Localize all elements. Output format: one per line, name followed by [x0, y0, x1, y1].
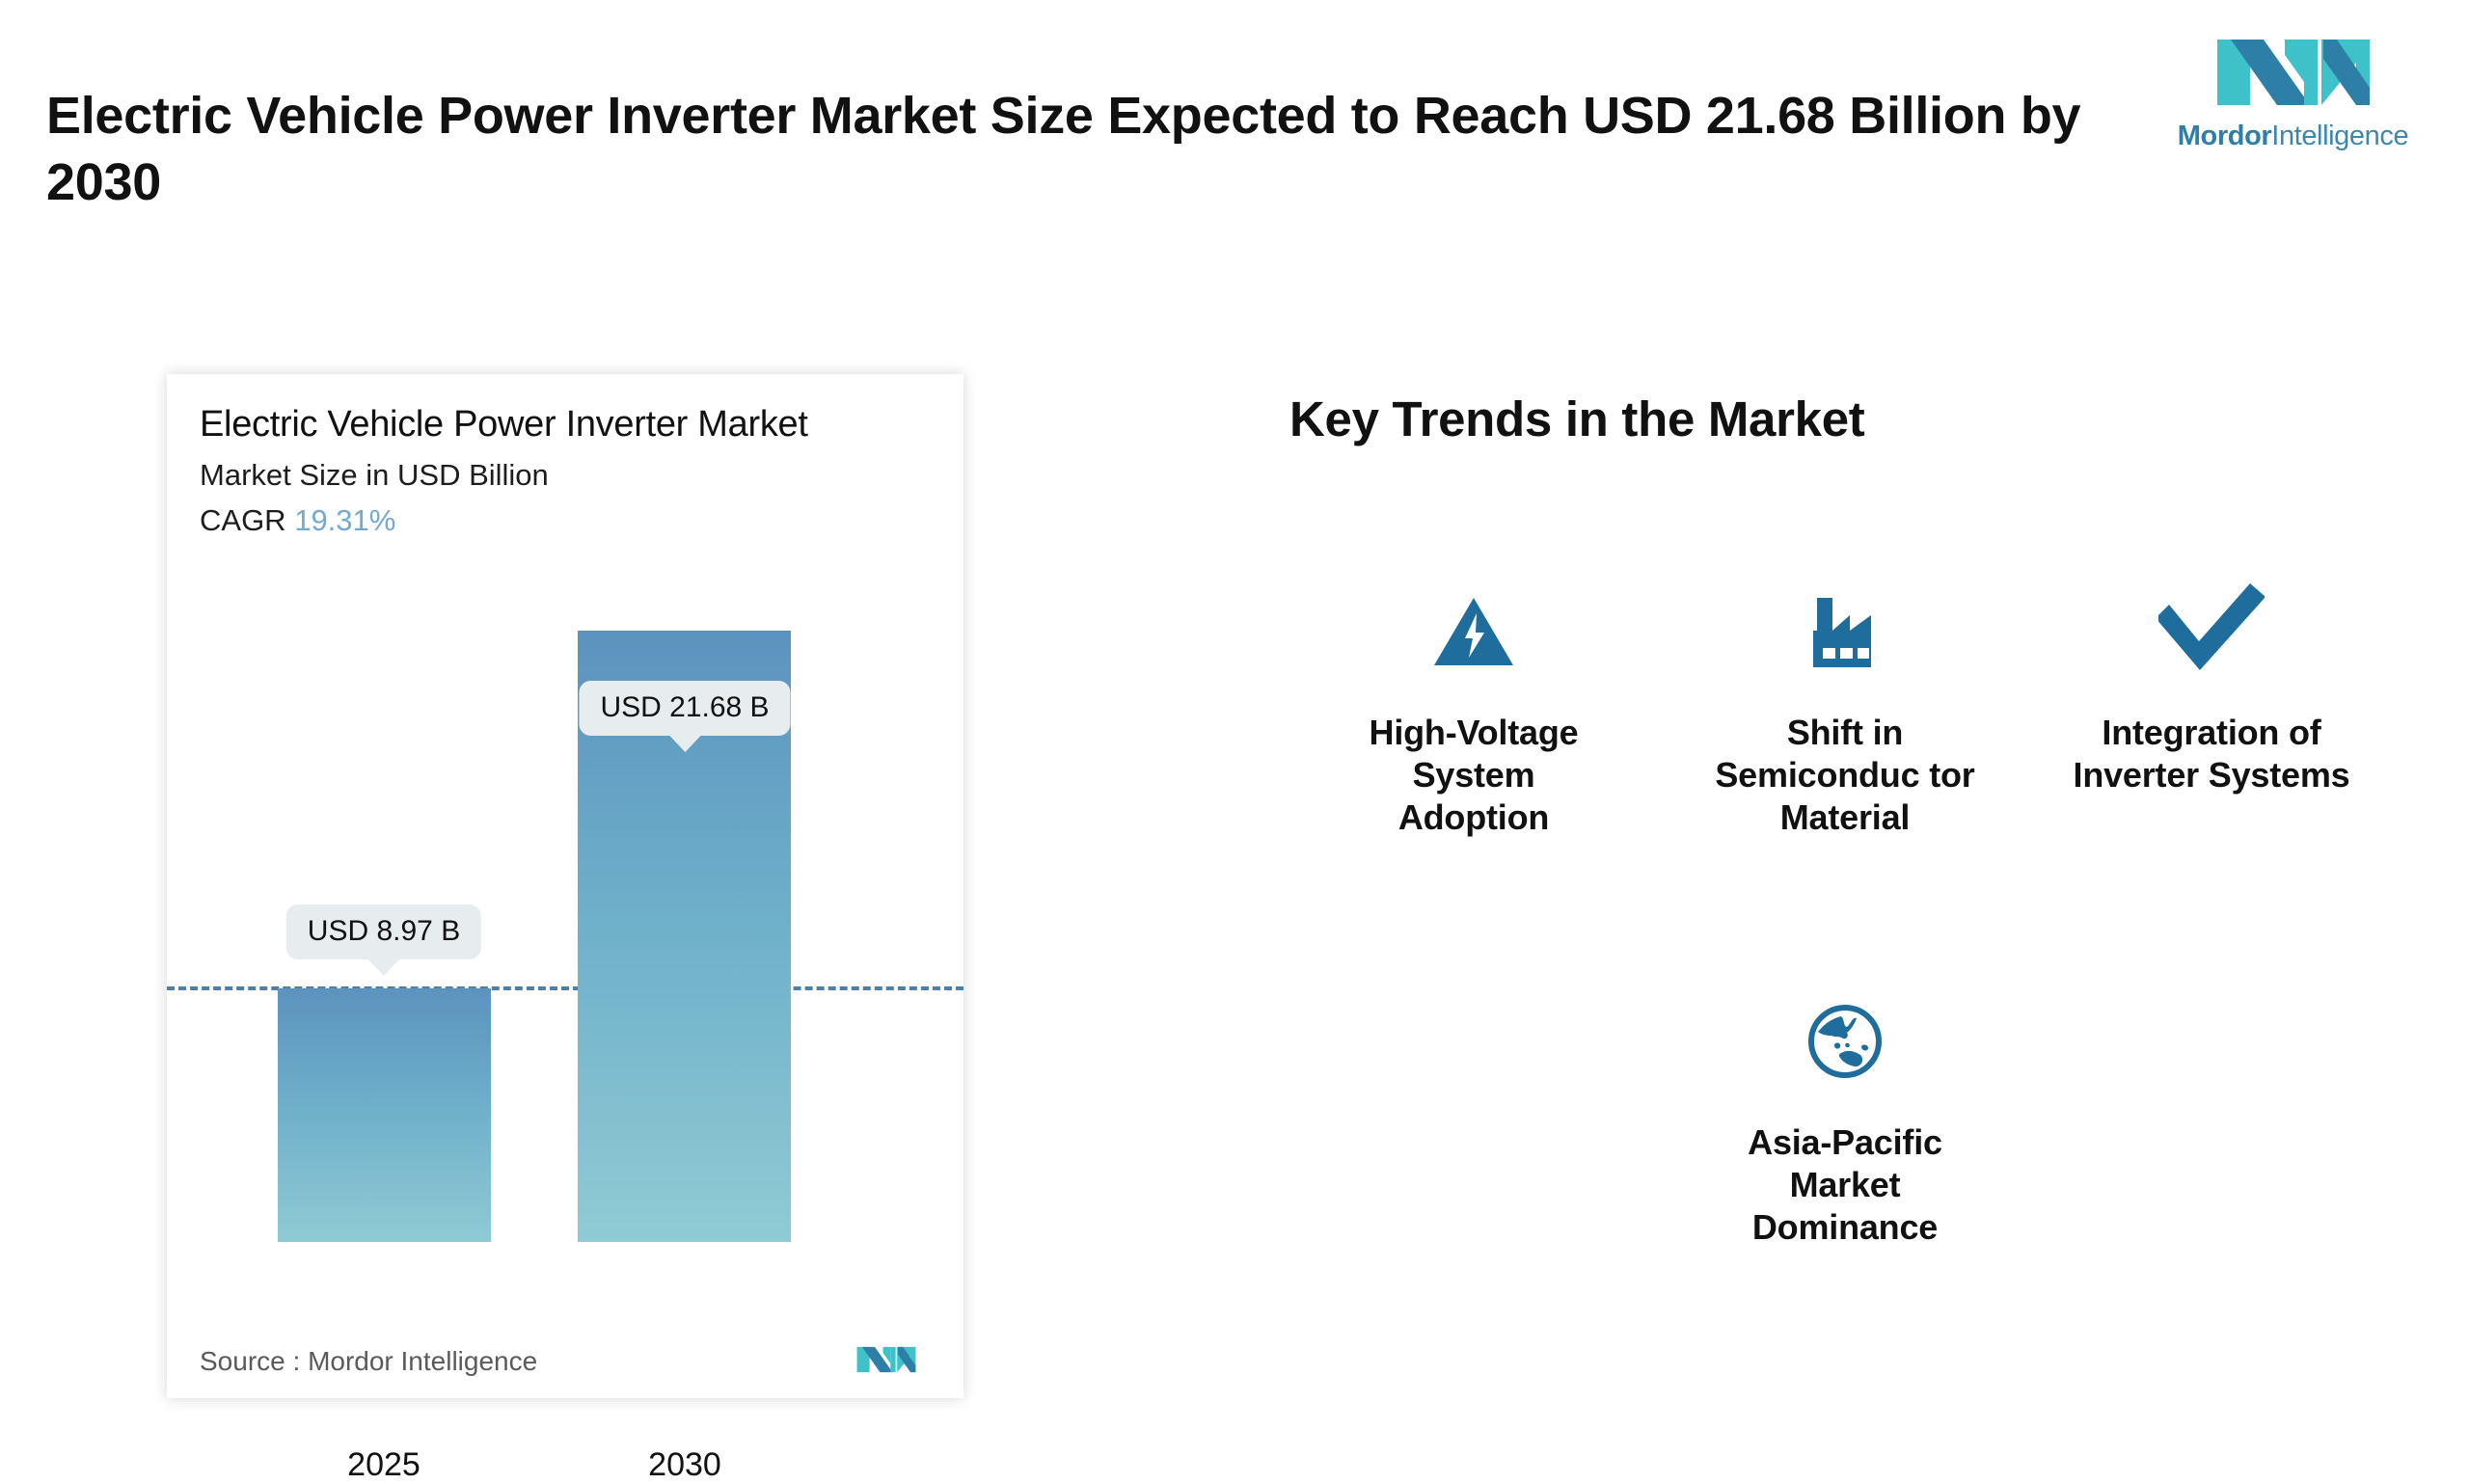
source-value: Mordor Intelligence	[308, 1346, 537, 1376]
page-title: Electric Vehicle Power Inverter Market S…	[46, 83, 2091, 216]
trend-icon-frame-3	[1792, 988, 1898, 1094]
chart-card: Electric Vehicle Power Inverter Market M…	[167, 374, 963, 1398]
bar-value-label-2030: USD 21.68 B	[579, 681, 790, 736]
brand-logo: MordorIntelligence	[2132, 0, 2454, 185]
chart-title: Electric Vehicle Power Inverter Market	[200, 404, 808, 445]
trend-label-1: Shift in Semiconduc tor Material	[1705, 712, 1985, 839]
bar-value-label-2025: USD 8.97 B	[286, 904, 481, 959]
chart-subtitle: Market Size in USD Billion	[200, 458, 549, 493]
trend-icon-frame-1	[1792, 579, 1898, 685]
trend-label-2: Integration of Inverter Systems	[2072, 712, 2351, 796]
globe-asia-pacific-icon	[1806, 1003, 1884, 1080]
trend-label-0: High-Voltage System Adoption	[1334, 712, 1614, 839]
chart-source: Source : Mordor Intelligence	[200, 1346, 537, 1377]
trend-icon-frame-0	[1421, 579, 1527, 685]
mordor-intelligence-logo-icon	[2213, 34, 2374, 111]
checkmark-icon	[2154, 581, 2269, 682]
cagr-value: 19.31%	[294, 503, 395, 537]
trend-item-asia-pacific[interactable]: Asia-Pacific Market Dominance	[1705, 988, 1985, 1249]
brand-word-mordor: Mordor	[2178, 121, 2271, 151]
chart-cagr: CAGR 19.31%	[200, 503, 395, 538]
trend-item-high-voltage[interactable]: High-Voltage System Adoption	[1334, 579, 1614, 839]
card-logo-icon	[855, 1342, 917, 1377]
brand-word-intelligence: Intelligence	[2271, 121, 2408, 151]
trend-label-3: Asia-Pacific Market Dominance	[1705, 1121, 1985, 1249]
x-axis-label-2030: 2030	[648, 1446, 721, 1484]
trend-item-inverter-integration[interactable]: Integration of Inverter Systems	[2072, 579, 2351, 796]
source-label: Source :	[200, 1346, 300, 1376]
plot-area: USD 8.97 B USD 21.68 B 2025 2030	[167, 567, 963, 1242]
key-trends-heading: Key Trends in the Market	[1289, 391, 1864, 447]
trend-icon-frame-2	[2158, 579, 2265, 685]
factory-icon	[1809, 594, 1881, 669]
bar-2025[interactable]	[278, 988, 491, 1242]
cagr-label: CAGR	[200, 503, 286, 537]
trend-item-semiconductor[interactable]: Shift in Semiconduc tor Material	[1705, 579, 1985, 839]
brand-wordmark: MordorIntelligence	[2178, 121, 2408, 152]
x-axis-label-2025: 2025	[347, 1446, 421, 1484]
high-voltage-triangle-icon	[1432, 594, 1515, 669]
